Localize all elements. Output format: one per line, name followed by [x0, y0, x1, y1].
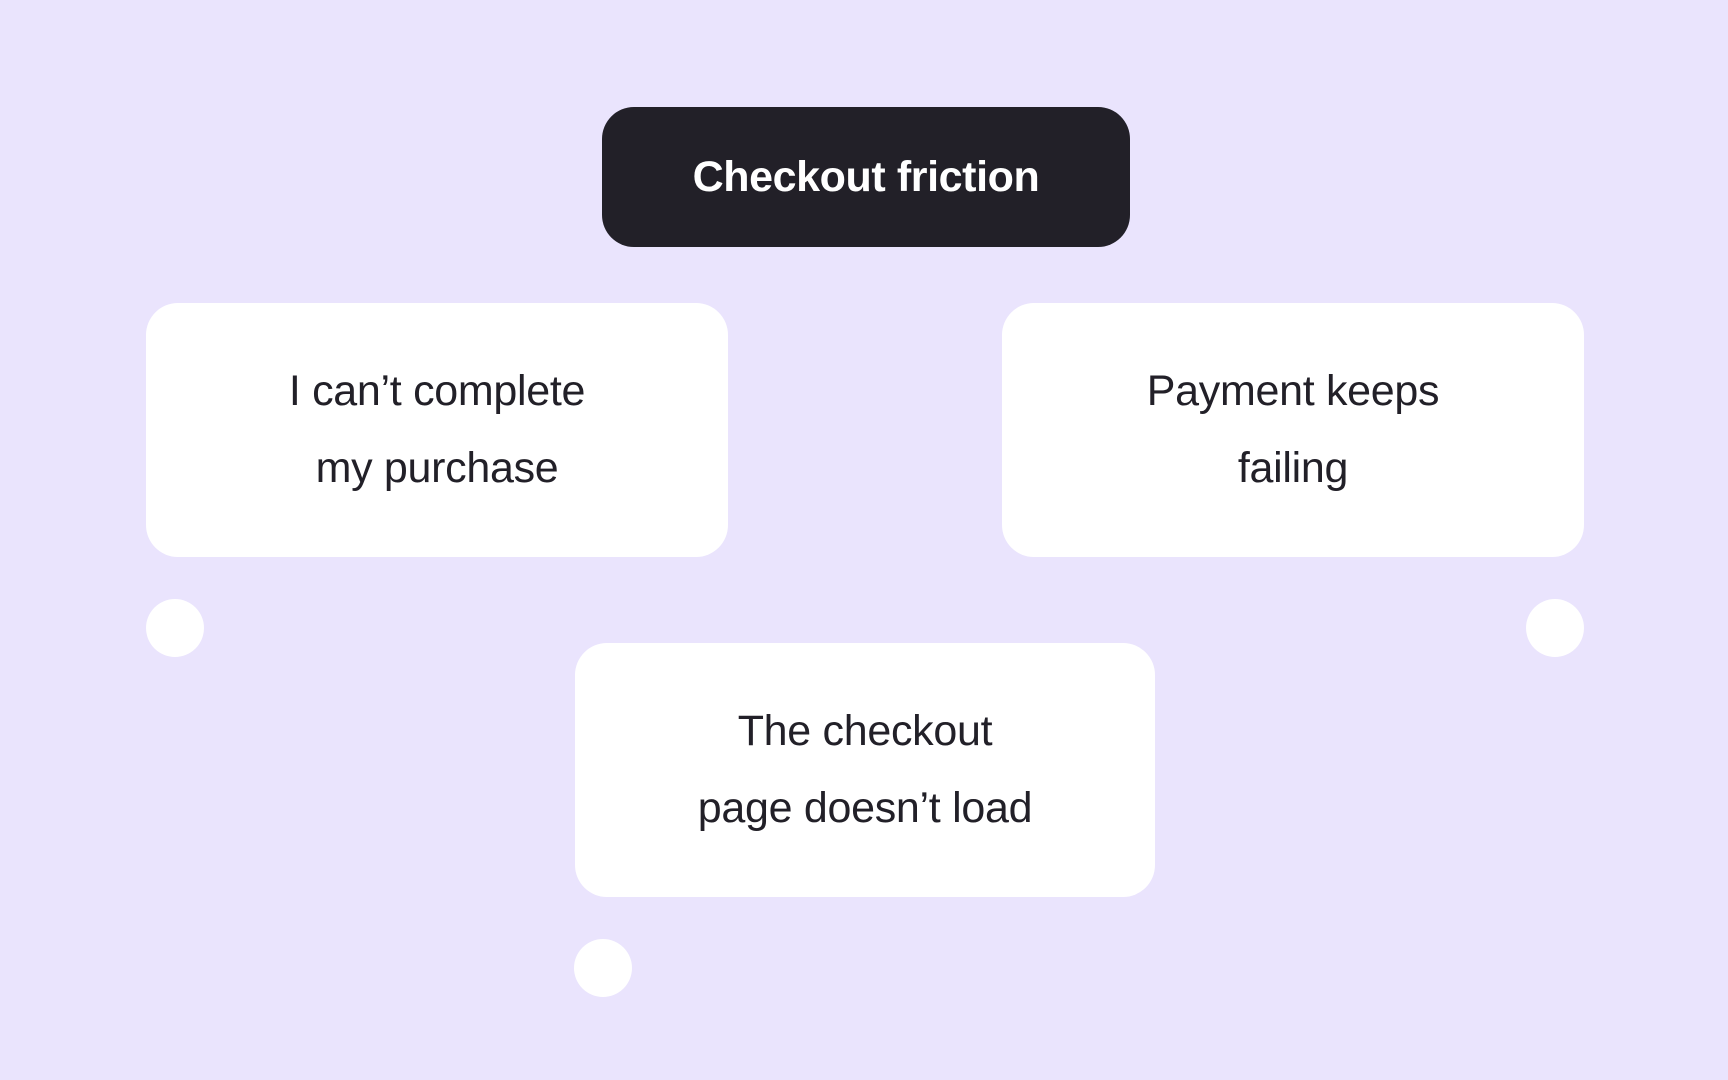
card-cant-complete-purchase[interactable]: I can’t complete my purchase — [146, 303, 728, 557]
card-right-line-2: failing — [1238, 444, 1348, 492]
root-node-checkout-friction[interactable]: Checkout friction — [602, 107, 1130, 247]
connection-handle-bottom-icon[interactable] — [574, 939, 632, 997]
card-checkout-page-doesnt-load[interactable]: The checkout page doesn’t load — [575, 643, 1155, 897]
card-bottom-line-1: The checkout — [738, 707, 993, 755]
card-right-line-1: Payment keeps — [1147, 367, 1439, 415]
card-left-line-2: my purchase — [316, 444, 559, 492]
card-payment-keeps-failing[interactable]: Payment keeps failing — [1002, 303, 1584, 557]
mindmap-canvas: Checkout friction I can’t complete my pu… — [0, 0, 1728, 1080]
connection-handle-left-icon[interactable] — [146, 599, 204, 657]
root-node-label: Checkout friction — [693, 152, 1040, 203]
card-left-line-1: I can’t complete — [289, 367, 585, 415]
card-bottom-label: The checkout page doesn’t load — [698, 693, 1032, 846]
connection-handle-right-icon[interactable] — [1526, 599, 1584, 657]
card-left-label: I can’t complete my purchase — [289, 353, 585, 506]
card-bottom-line-2: page doesn’t load — [698, 784, 1032, 832]
card-right-label: Payment keeps failing — [1147, 353, 1439, 506]
